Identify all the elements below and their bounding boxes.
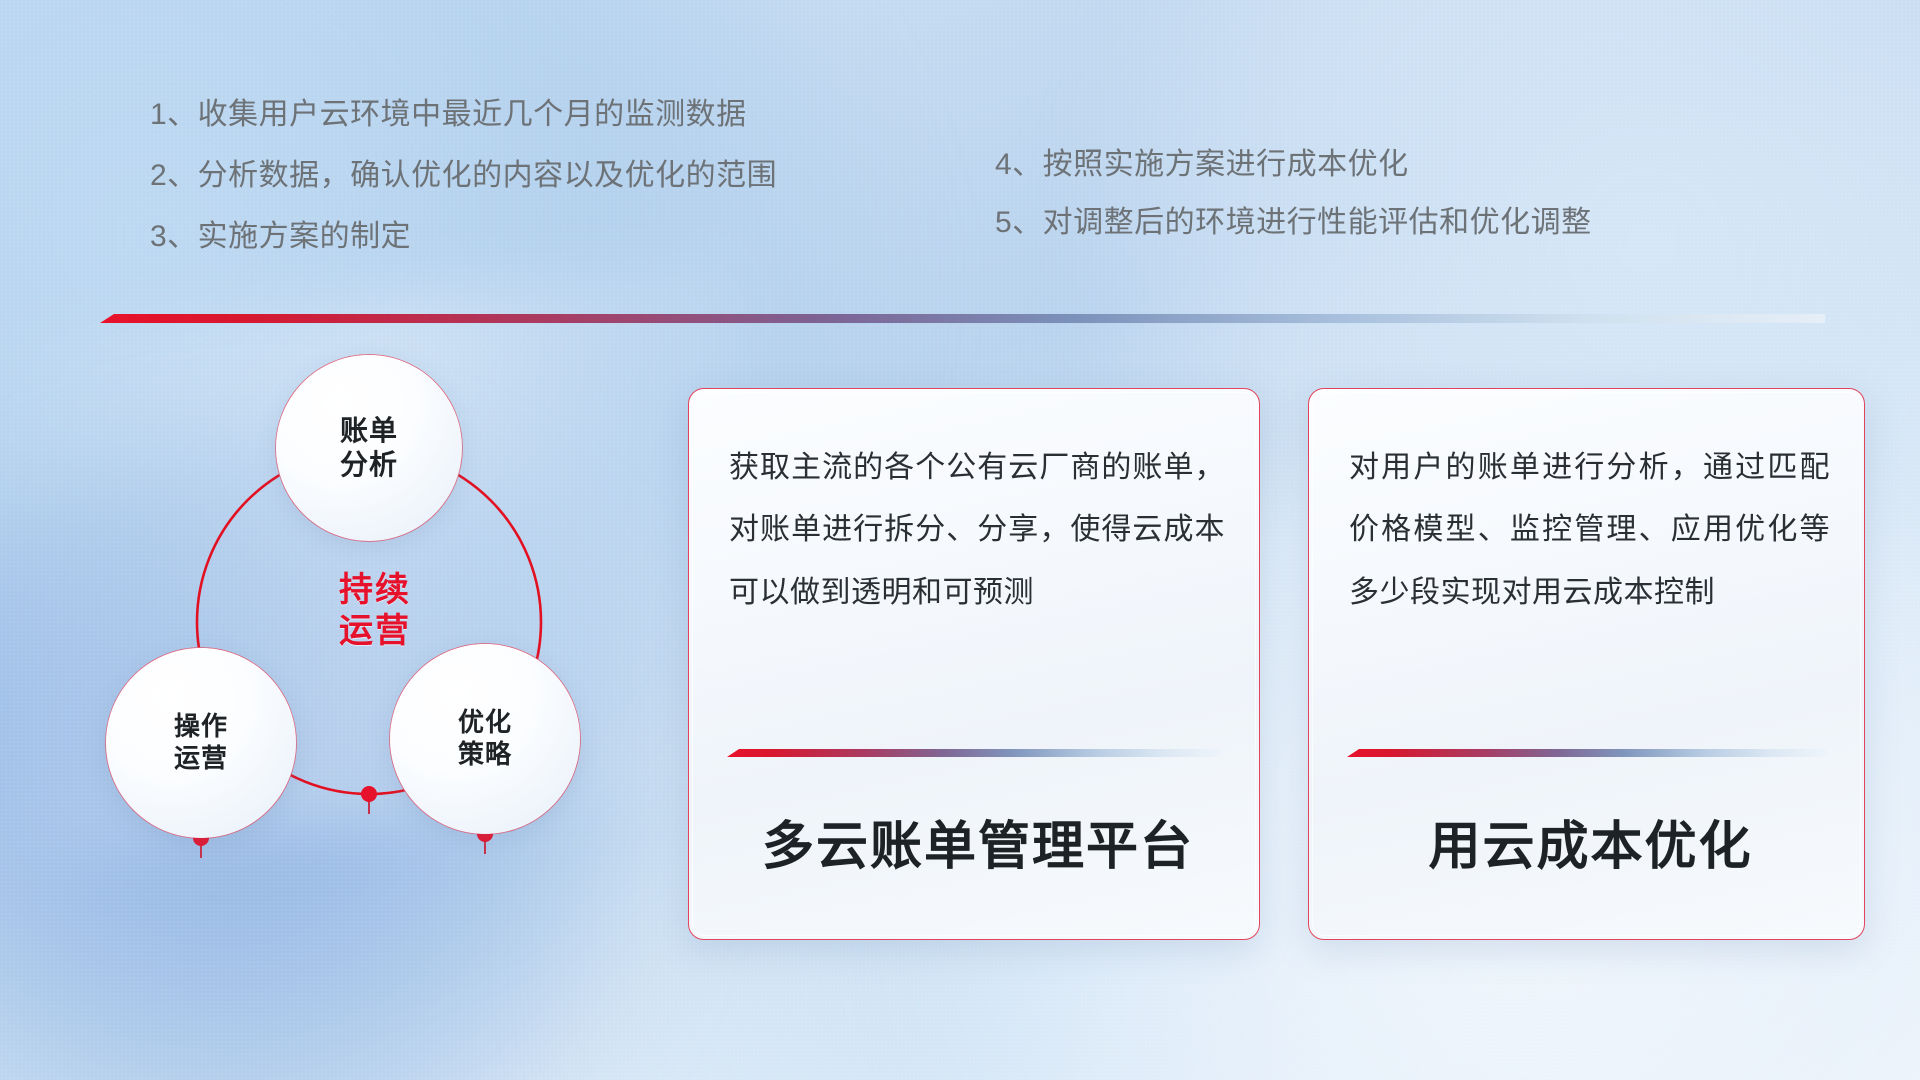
venn-bubble-operation-line1: 操作 xyxy=(174,711,228,743)
venn-bubble-bill-analysis-line2: 分析 xyxy=(340,448,398,482)
process-step-5: 5、对调整后的环境进行性能评估和优化调整 xyxy=(995,208,1592,238)
venn-bubble-bill-analysis[interactable]: 账单 分析 xyxy=(276,355,462,541)
card-multi-cloud-bill-platform[interactable]: 获取主流的各个公有云厂商的账单，对账单进行拆分、分享，使得云成本可以做到透明和可… xyxy=(688,388,1260,940)
venn-diagram: 账单 分析 操作 运营 优化 策略 持续 运营 xyxy=(100,352,640,952)
card-multi-cloud-bill-platform-rule xyxy=(727,749,1222,757)
card-cloud-cost-optimization[interactable]: 对用户的账单进行分析，通过匹配价格模型、监控管理、应用优化等多少段实现对用云成本… xyxy=(1308,388,1865,940)
venn-bubble-operation[interactable]: 操作 运营 xyxy=(106,648,296,838)
slide-canvas: 1、收集用户云环境中最近几个月的监测数据 2、分析数据，确认优化的内容以及优化的… xyxy=(0,0,1920,1080)
card-cloud-cost-optimization-rule xyxy=(1347,749,1827,757)
card-multi-cloud-bill-platform-body: 获取主流的各个公有云厂商的账单，对账单进行拆分、分享，使得云成本可以做到透明和可… xyxy=(729,437,1225,624)
process-step-2: 2、分析数据，确认优化的内容以及优化的范围 xyxy=(150,161,777,191)
venn-bubble-operation-label: 操作 运营 xyxy=(174,711,228,774)
process-steps-left-column: 1、收集用户云环境中最近几个月的监测数据 2、分析数据，确认优化的内容以及优化的… xyxy=(150,100,777,283)
venn-center-label-line1: 持续 xyxy=(300,570,450,611)
card-cloud-cost-optimization-title: 用云成本优化 xyxy=(1345,819,1836,876)
venn-bubble-operation-line2: 运营 xyxy=(174,743,228,775)
card-multi-cloud-bill-platform-title: 多云账单管理平台 xyxy=(725,819,1231,876)
venn-bubble-bill-analysis-line1: 账单 xyxy=(340,414,398,448)
venn-bubble-optimization-strategy-label: 优化 策略 xyxy=(458,707,512,770)
venn-center-label: 持续 运营 xyxy=(300,570,450,653)
header-divider xyxy=(100,314,1825,323)
venn-bubble-optimization-strategy[interactable]: 优化 策略 xyxy=(390,644,580,834)
process-steps-right-column: 4、按照实施方案进行成本优化 5、对调整后的环境进行性能评估和优化调整 xyxy=(995,150,1592,266)
process-step-3: 3、实施方案的制定 xyxy=(150,222,777,252)
venn-bubble-optimization-strategy-line1: 优化 xyxy=(458,707,512,739)
process-step-1: 1、收集用户云环境中最近几个月的监测数据 xyxy=(150,100,777,130)
venn-node-top xyxy=(361,786,377,802)
venn-center-label-line2: 运营 xyxy=(300,611,450,652)
process-step-4: 4、按照实施方案进行成本优化 xyxy=(995,150,1592,180)
venn-bubble-optimization-strategy-line2: 策略 xyxy=(458,739,512,771)
process-steps: 1、收集用户云环境中最近几个月的监测数据 2、分析数据，确认优化的内容以及优化的… xyxy=(0,0,1920,300)
card-cloud-cost-optimization-body: 对用户的账单进行分析，通过匹配价格模型、监控管理、应用优化等多少段实现对用云成本… xyxy=(1349,437,1830,624)
venn-bubble-bill-analysis-label: 账单 分析 xyxy=(340,414,398,482)
